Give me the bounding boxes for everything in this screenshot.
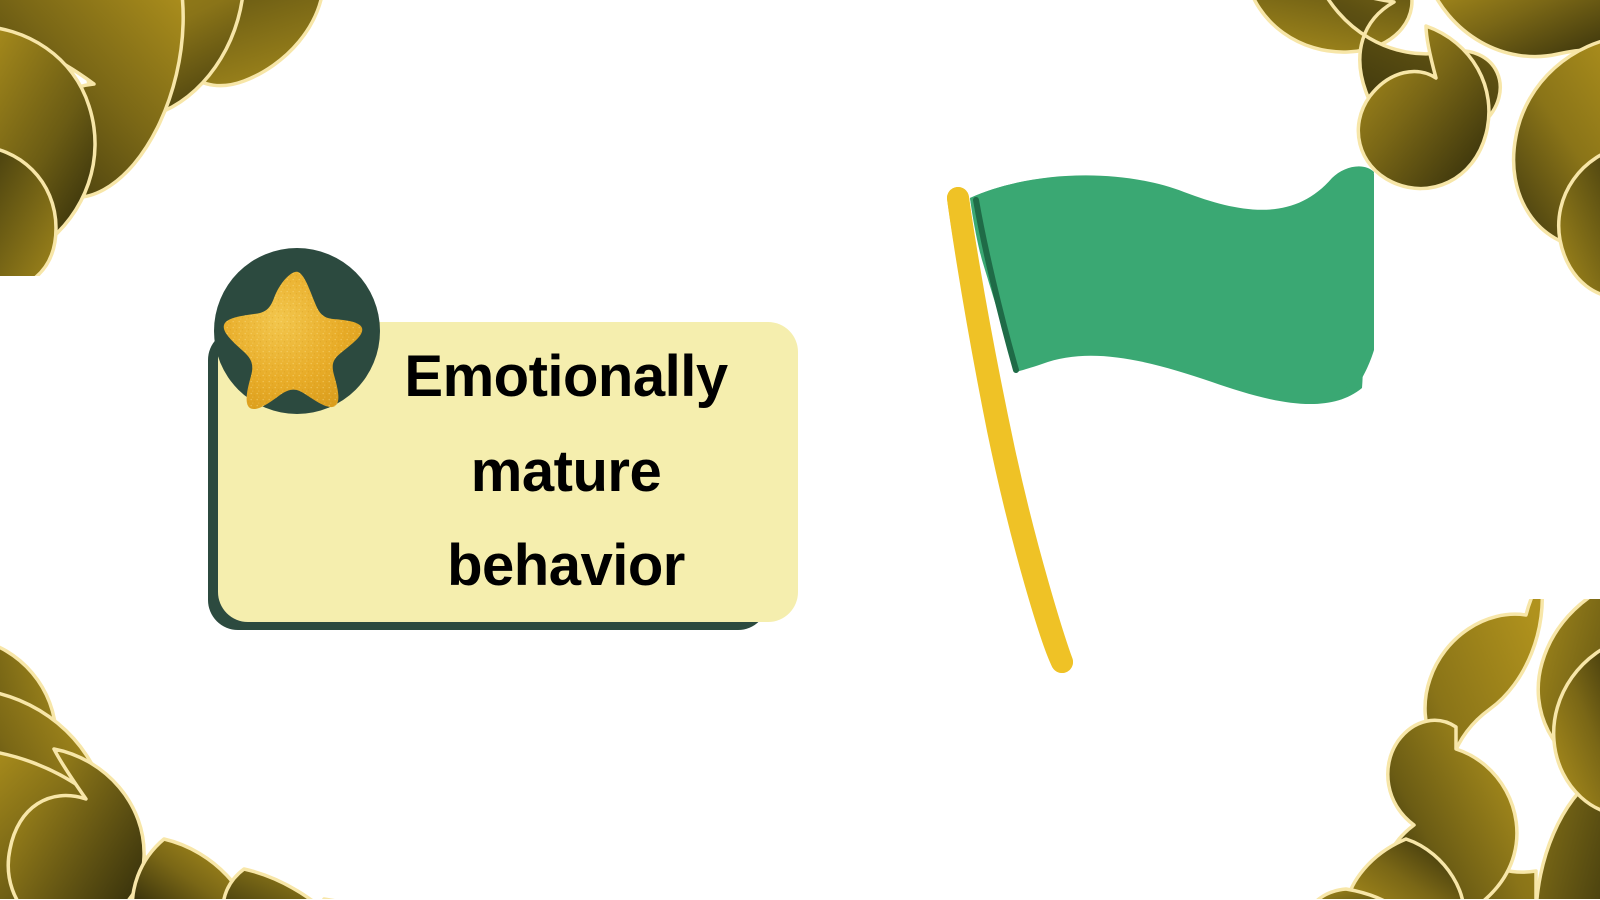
card-text-line-3: behavior [447,519,685,614]
green-flag-illustration [912,150,1382,690]
corner-ornament-top-left [0,0,394,281]
corner-ornament-bottom-left [0,609,434,900]
card-text-line-1: Emotionally [404,330,727,425]
flag-cloth [970,168,1374,395]
star-badge [214,248,380,414]
trait-card: Emotionally mature behavior [208,248,798,636]
card-text-line-2: mature [471,425,661,520]
slide-canvas: Emotionally mature behavior [0,0,1600,900]
